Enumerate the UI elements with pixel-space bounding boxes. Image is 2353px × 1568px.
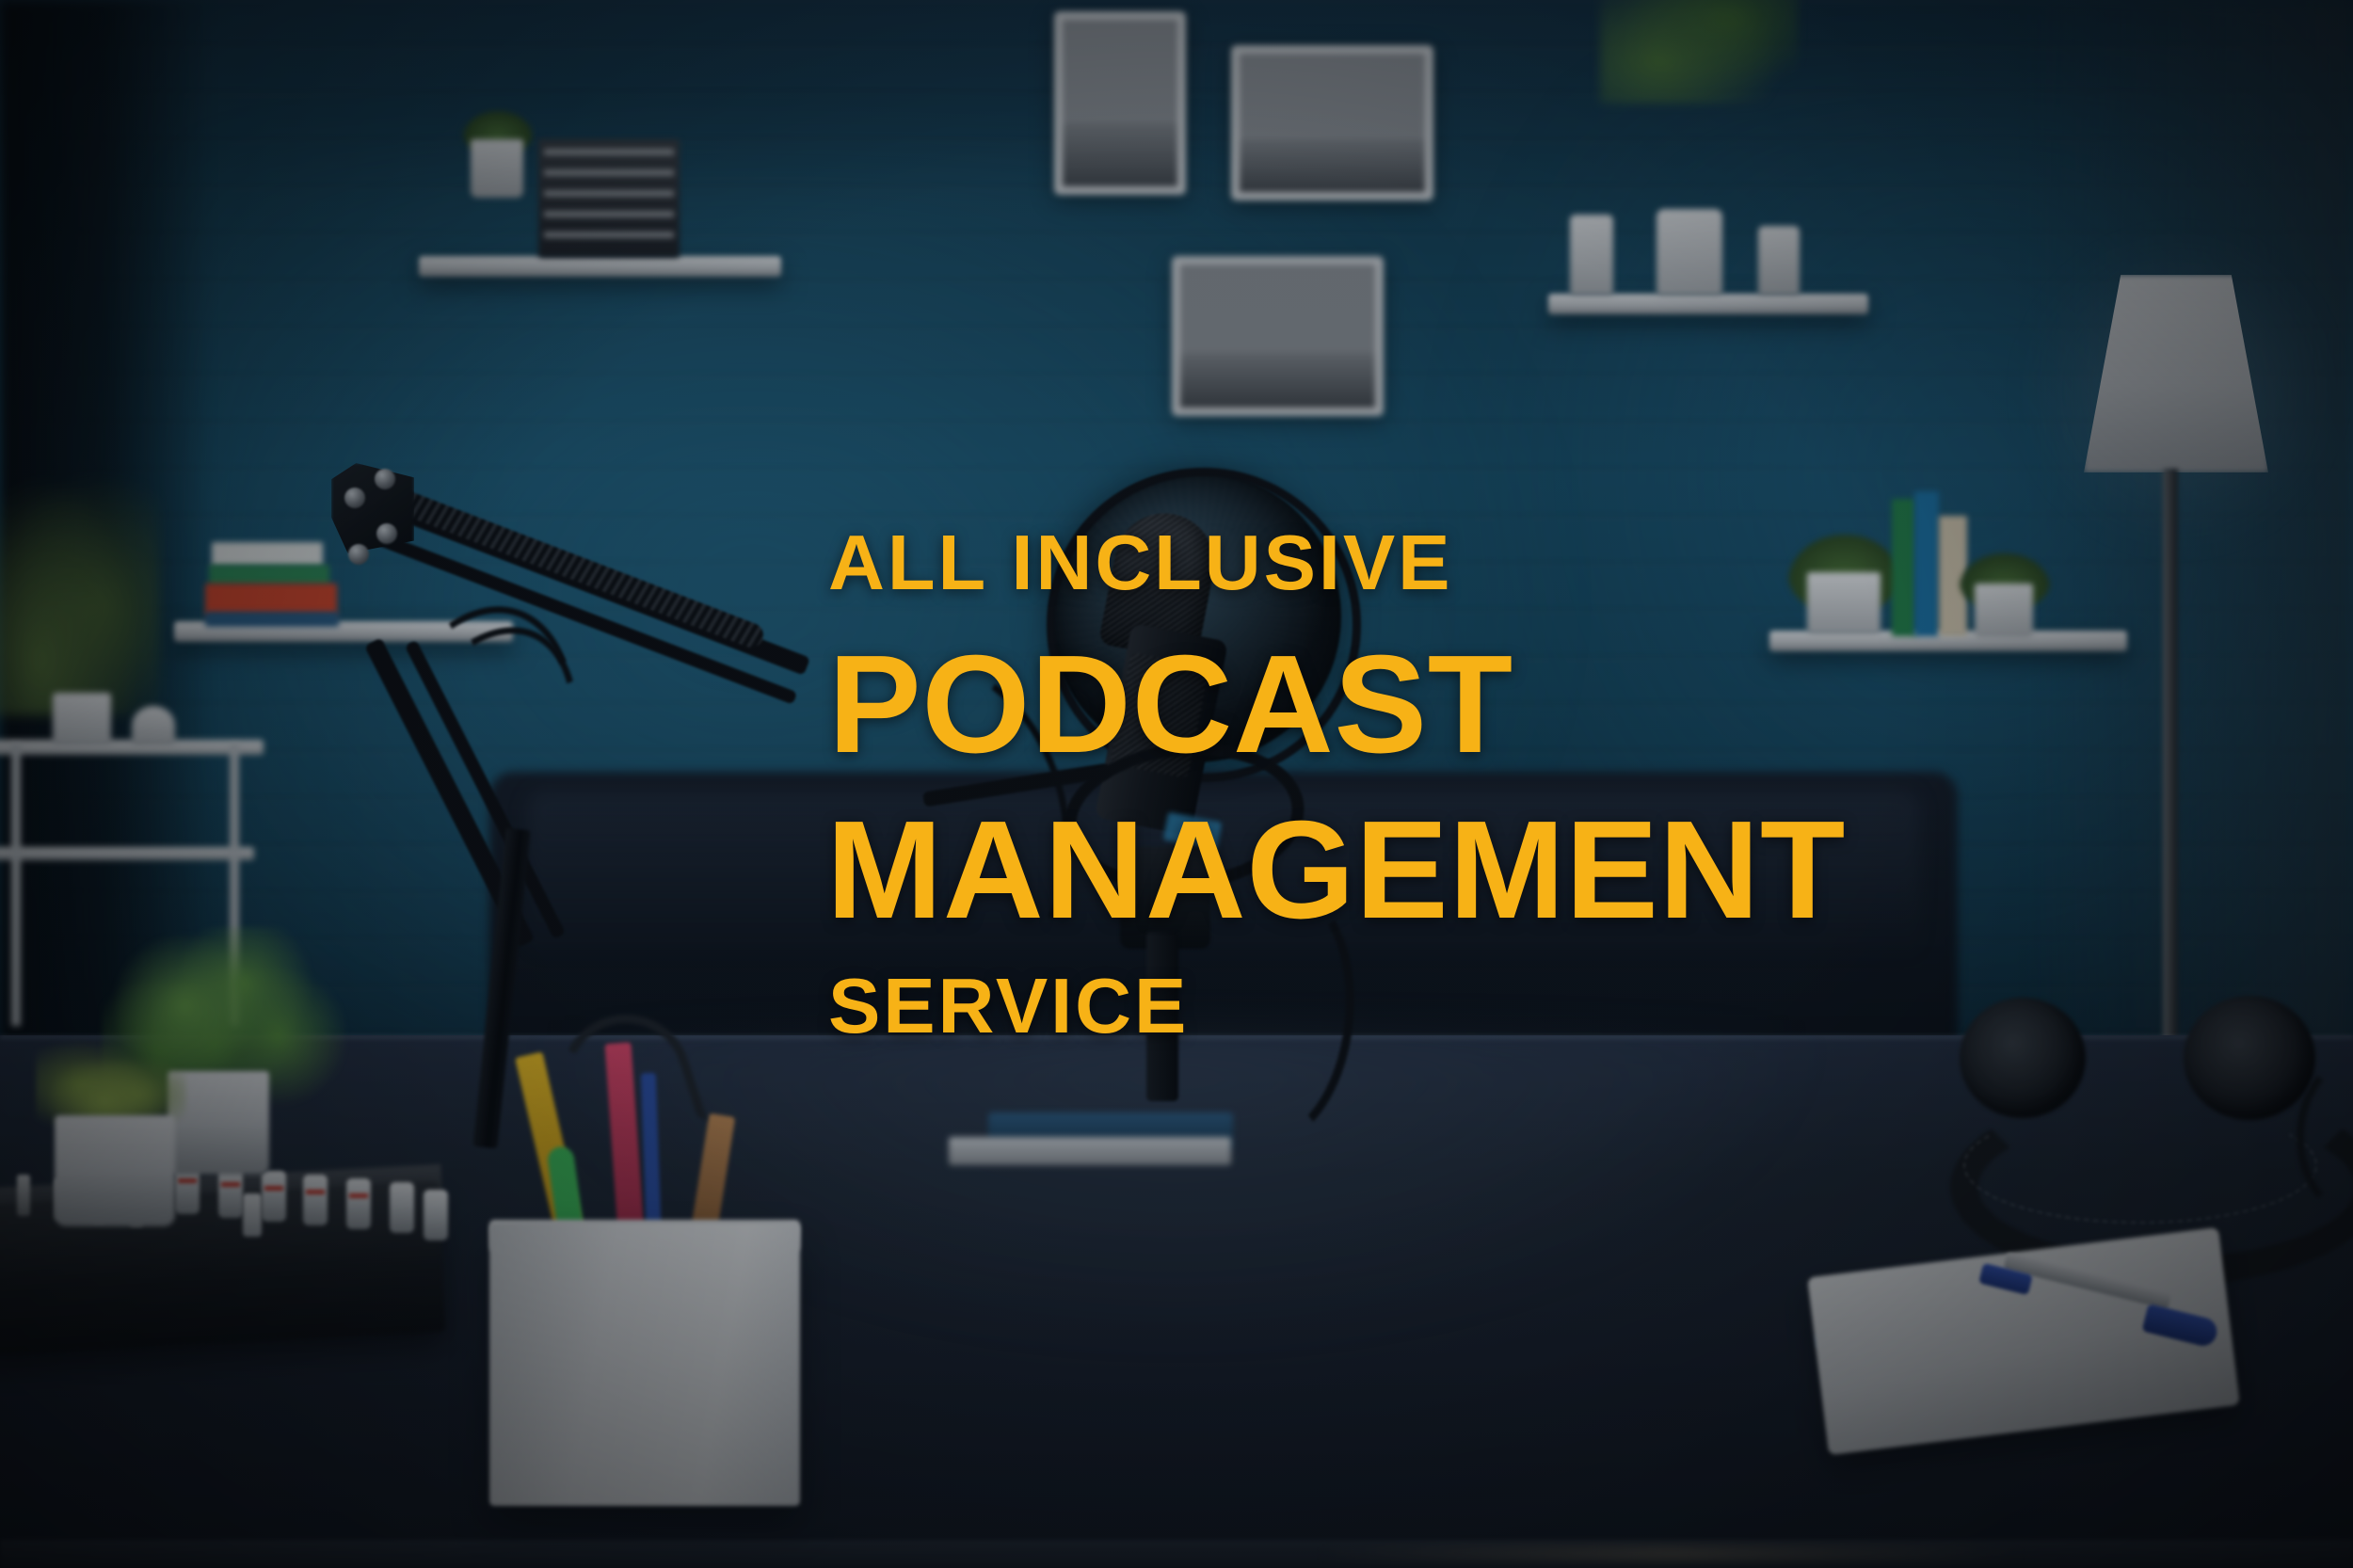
subline-text: SERVICE (828, 967, 1189, 1045)
eyebrow-text: ALL INCLUSIVE (828, 523, 1452, 601)
headline-line-2: MANAGEMENT (826, 801, 1846, 940)
banner-canvas: ALL INCLUSIVE PODCAST MANAGEMENT SERVICE (0, 0, 2353, 1568)
headline-line-1: PODCAST (828, 635, 1513, 775)
headline-overlay: ALL INCLUSIVE PODCAST MANAGEMENT SERVICE (0, 0, 2353, 1568)
